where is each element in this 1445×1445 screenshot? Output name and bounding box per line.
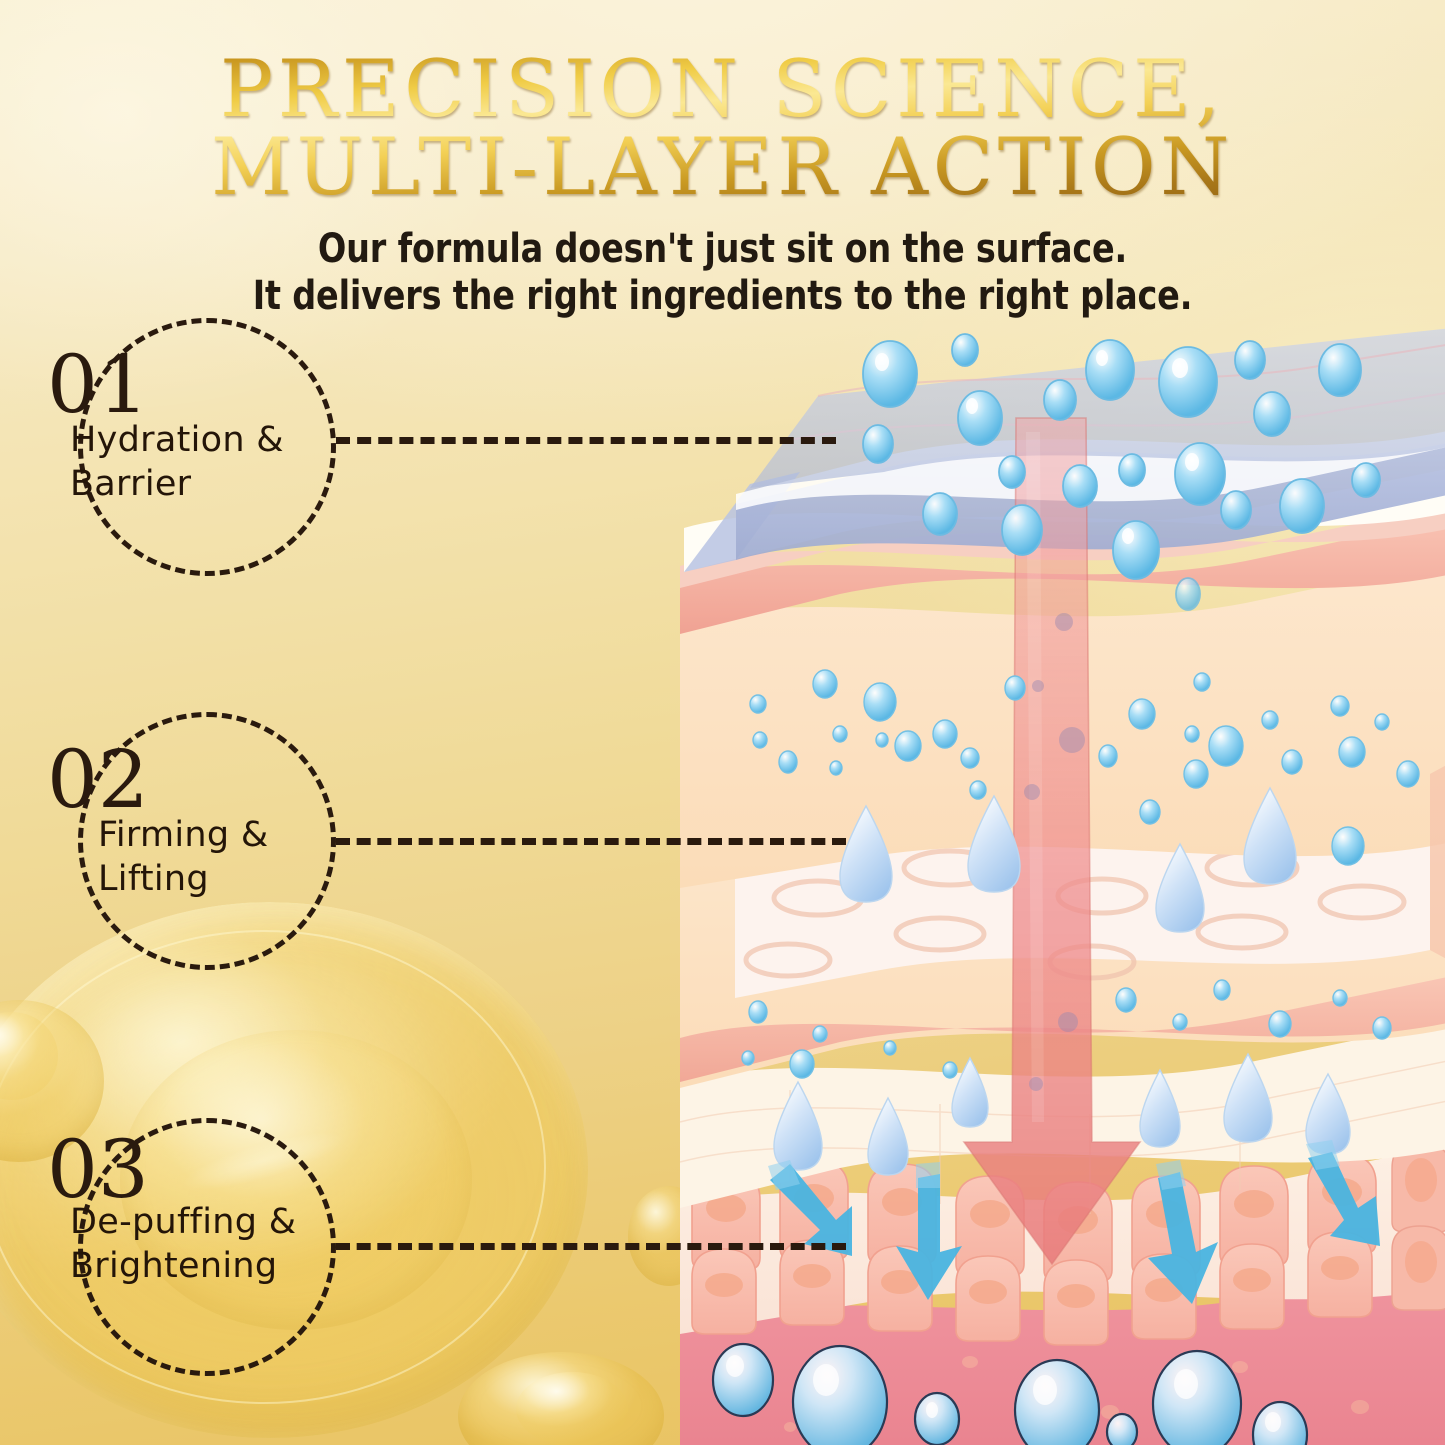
skin-cross-section-diagram xyxy=(640,322,1445,1445)
page-subtitle: Our formula doesn't just sit on the surf… xyxy=(51,226,1395,320)
page-title: PRECISION SCIENCE, MULTI-LAYER ACTION xyxy=(0,50,1445,206)
step-03-label: De-puffing & Brightening xyxy=(70,1200,380,1288)
step-01-number: 01 xyxy=(47,345,149,425)
step-03-connector xyxy=(336,1243,846,1250)
step-02-label: Firming & Lifting xyxy=(98,813,398,901)
step-03-number: 03 xyxy=(47,1130,149,1210)
header-block: PRECISION SCIENCE, MULTI-LAYER ACTION Ou… xyxy=(0,0,1445,320)
step-01-connector xyxy=(336,437,836,444)
step-01-label: Hydration & Barrier xyxy=(70,418,370,506)
infographic-canvas: PRECISION SCIENCE, MULTI-LAYER ACTION Ou… xyxy=(0,0,1445,1445)
step-02-connector xyxy=(336,838,846,845)
step-02-number: 02 xyxy=(47,740,149,820)
